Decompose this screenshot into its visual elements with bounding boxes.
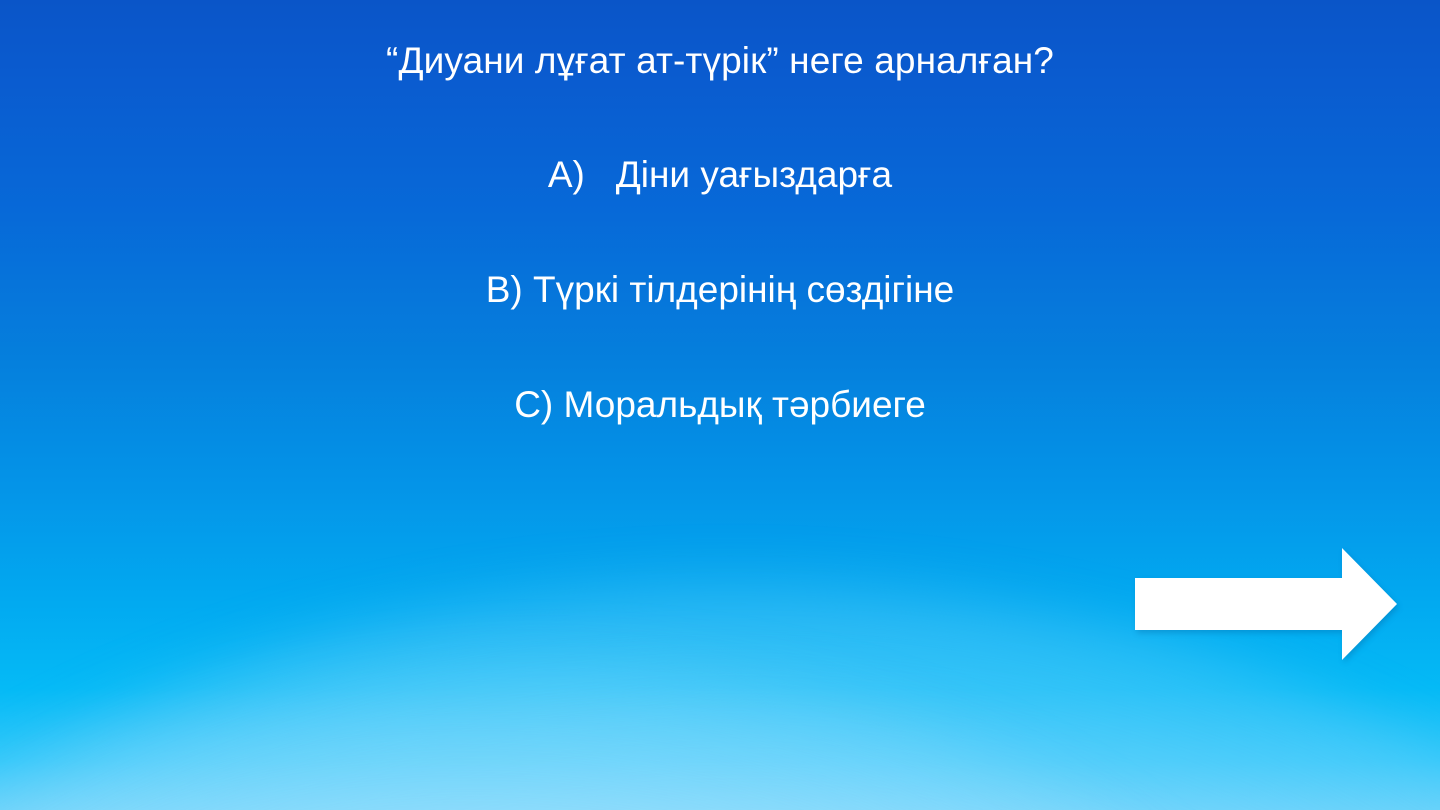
answer-options-list: А) Діни уағыздарға В) Түркі тілдерінің с…: [0, 152, 1440, 428]
arrow-right-icon[interactable]: [1135, 548, 1397, 660]
answer-option-b[interactable]: В) Түркі тілдерінің сөздігіне: [0, 267, 1440, 313]
presentation-slide: “Диуани лұғат ат-түрік” неге арналған? А…: [0, 0, 1440, 810]
question-title: “Диуани лұғат ат-түрік” неге арналған?: [0, 38, 1440, 84]
answer-option-a[interactable]: А) Діни уағыздарға: [0, 152, 1440, 198]
slide-content: “Диуани лұғат ат-түрік” неге арналған? А…: [0, 0, 1440, 810]
answer-option-c[interactable]: С) Моральдық тәрбиеге: [0, 382, 1440, 428]
